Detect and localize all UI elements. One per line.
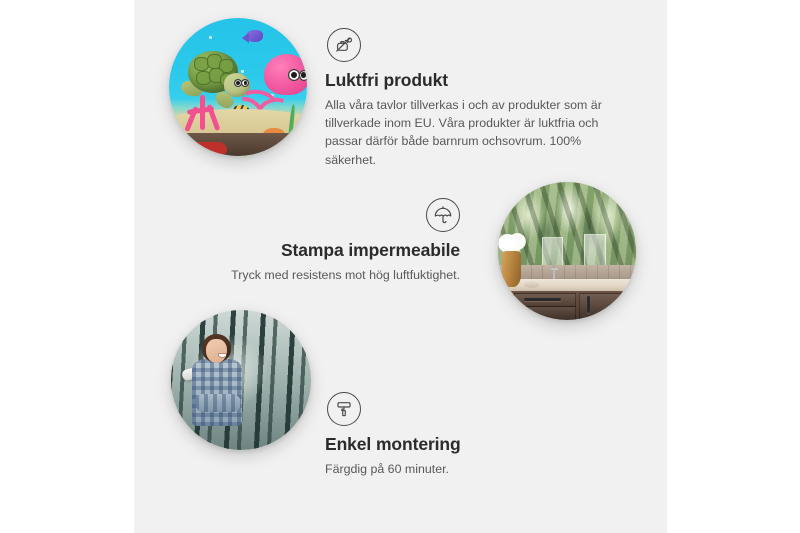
octopus-head bbox=[264, 54, 307, 95]
blue-fish bbox=[246, 30, 263, 42]
feature-title: Stampa impermeabile bbox=[160, 240, 460, 262]
bathroom-wallpaper-photo bbox=[498, 182, 636, 320]
drawer-pull bbox=[524, 298, 560, 302]
vanity-cabinet bbox=[506, 291, 636, 320]
vase bbox=[502, 251, 521, 287]
feature-body: Tryck med resistens mot hög luftfuktighe… bbox=[160, 266, 460, 284]
plaid-shirt bbox=[192, 359, 242, 426]
feature-title: Luktfri produkt bbox=[325, 70, 625, 92]
sea-bottom-strip bbox=[169, 133, 307, 156]
paint-roller-icon bbox=[327, 392, 361, 426]
bubble-icon bbox=[209, 36, 212, 39]
feature-body: Alla våra tavlor tillverkas i och av pro… bbox=[325, 96, 625, 169]
drawer-pull bbox=[587, 296, 591, 313]
crossed-arms bbox=[195, 394, 241, 412]
content-panel: Luktfri produkt Alla våra tavlor tillver… bbox=[134, 0, 667, 533]
umbrella-icon bbox=[426, 198, 460, 232]
no-fragrance-icon bbox=[327, 28, 361, 62]
woman-with-roller-photo bbox=[171, 310, 311, 450]
feature-title: Enkel montering bbox=[325, 434, 625, 456]
feature-body: Färgdig på 60 minuter. bbox=[325, 460, 625, 478]
product-feature-graphic: Luktfri produkt Alla våra tavlor tillver… bbox=[0, 0, 800, 533]
coral bbox=[183, 93, 224, 137]
undersea-cartoon-photo bbox=[169, 18, 307, 156]
